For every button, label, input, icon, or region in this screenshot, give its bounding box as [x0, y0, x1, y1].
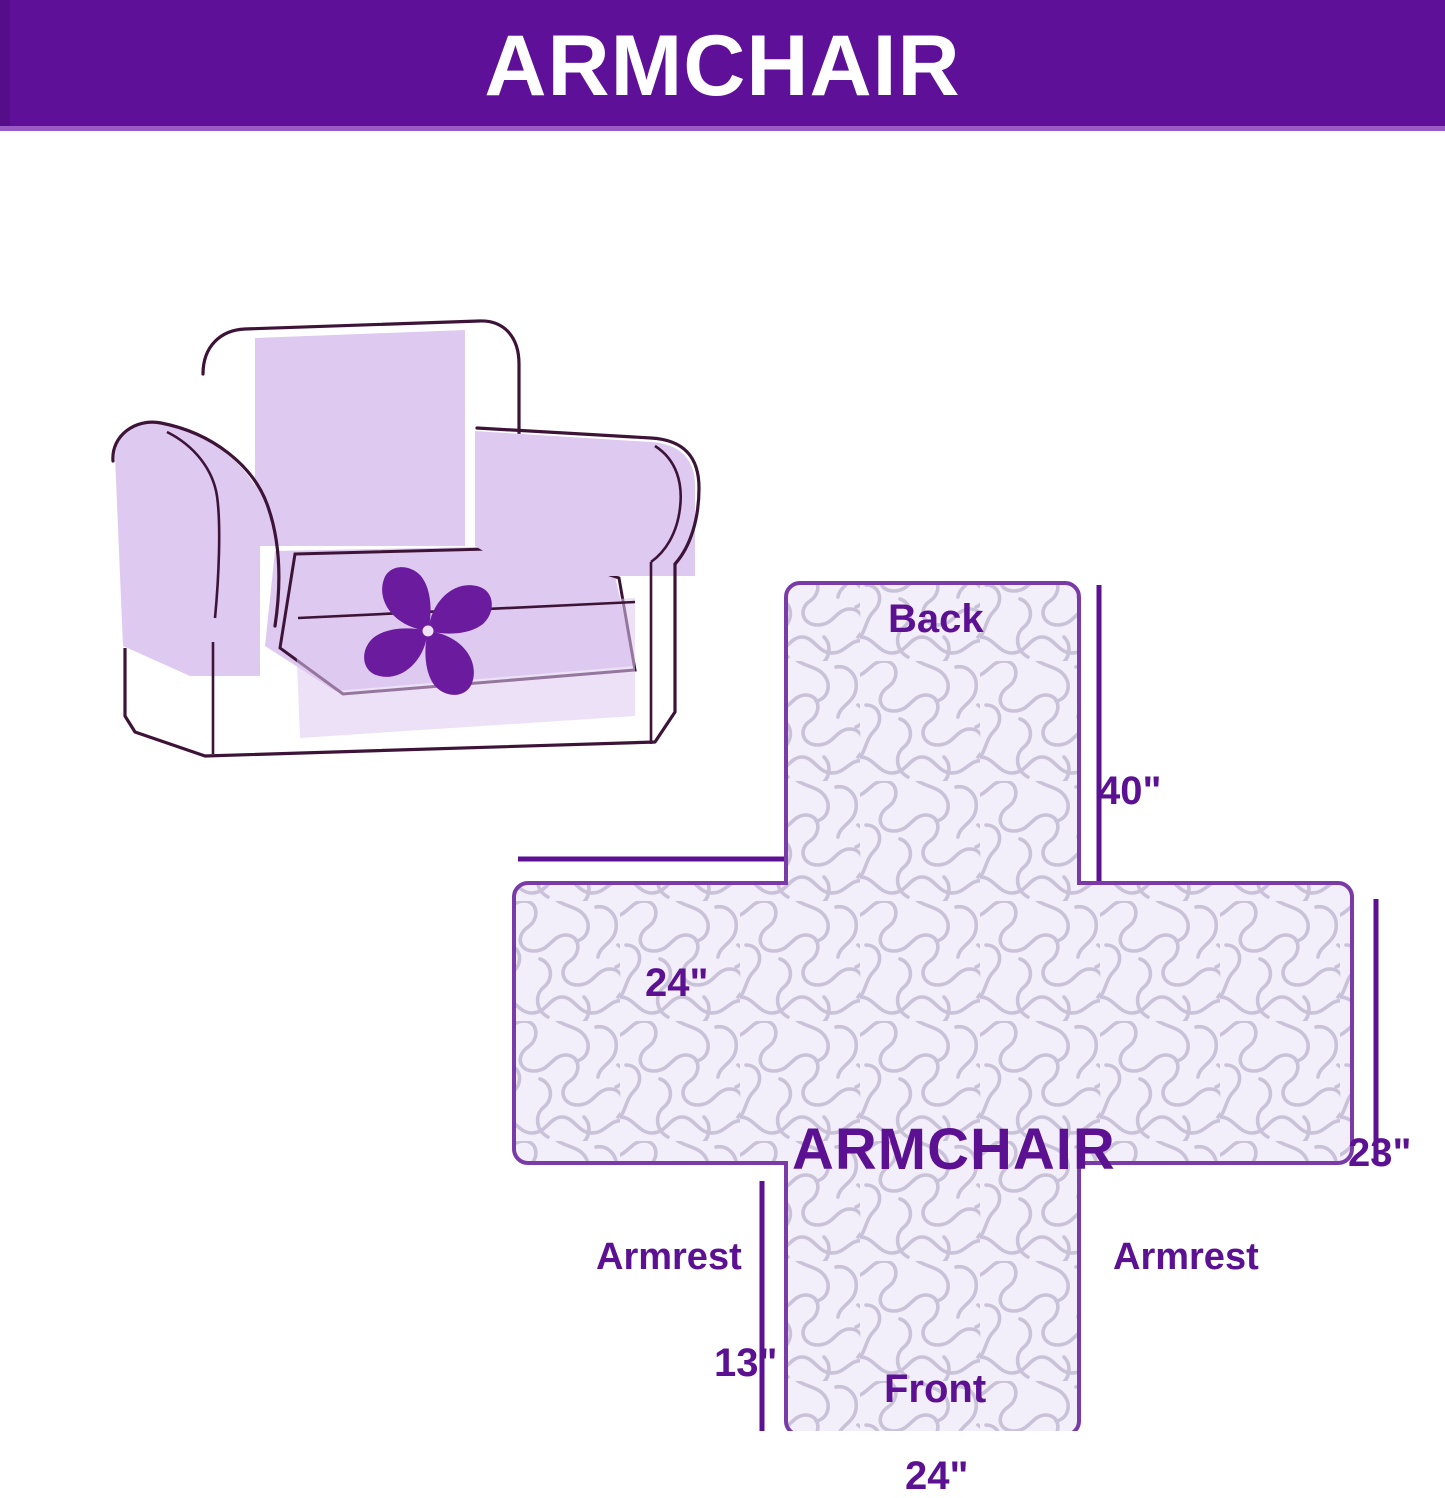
chair-back-cover [255, 330, 465, 546]
diagram-center-label: ARMCHAIR [792, 1121, 1116, 1179]
page-title: ARMCHAIR [484, 23, 960, 109]
cover-outline [514, 583, 1352, 1431]
panel-label-back: Back [888, 599, 984, 639]
dimension-label-center-height: 23" [1348, 1133, 1411, 1173]
banner-left-shade [0, 0, 10, 131]
content-stage: Back ARMCHAIR Armrest Armrest Front 40" … [0, 131, 1445, 1445]
dimension-label-armrest-width: 24" [645, 963, 708, 1003]
slipcover-layout-diagram [500, 421, 1445, 1431]
dimension-label-front-height: 13" [714, 1343, 777, 1383]
dimension-label-back-height: 40" [1098, 771, 1161, 811]
cover-cross-shape [514, 583, 1352, 1431]
panel-label-armrest-left: Armrest [596, 1238, 742, 1276]
dimension-label-front-width: 24" [905, 1456, 968, 1496]
panel-label-front: Front [884, 1369, 986, 1409]
header-banner: ARMCHAIR [0, 0, 1445, 131]
panel-label-armrest-right: Armrest [1113, 1238, 1259, 1276]
